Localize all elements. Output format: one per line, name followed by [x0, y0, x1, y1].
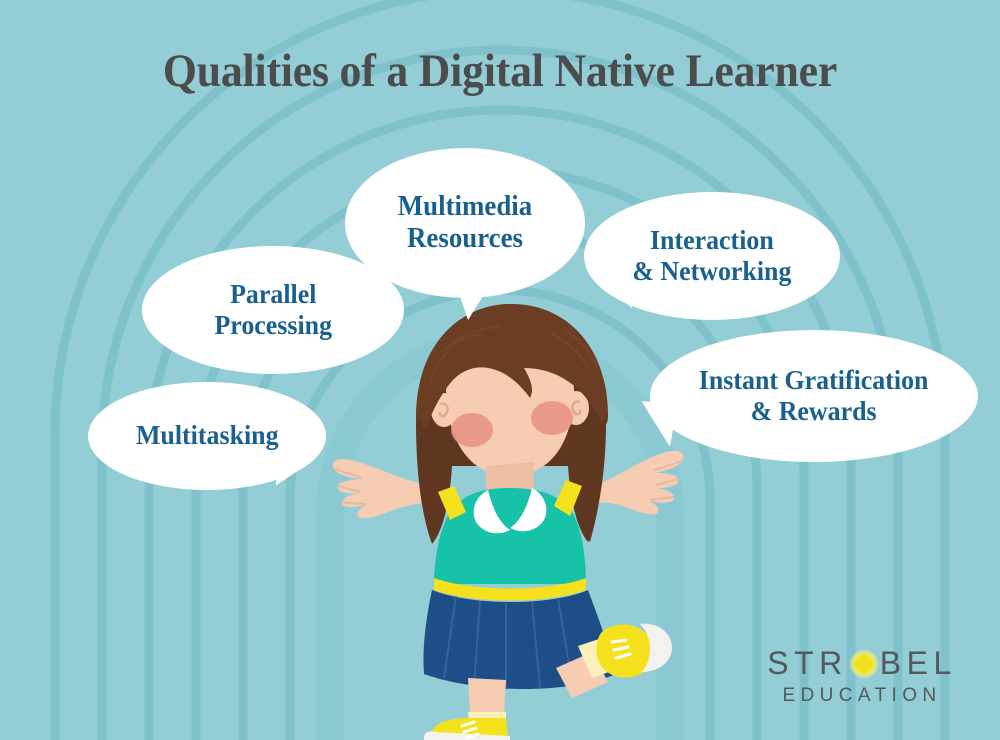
bubble-parallel-processing[interactable]: Parallel Processing — [142, 246, 404, 374]
logo-wordmark: STR BEL — [756, 645, 968, 681]
bubble-multitasking[interactable]: Multitasking — [88, 382, 326, 490]
bubble-instant-gratification-rewards[interactable]: Instant Gratification & Rewards — [650, 330, 978, 462]
bubble-interaction-line1: Interaction — [650, 225, 774, 255]
bubble-multitasking-line1: Multitasking — [136, 420, 279, 450]
logo-name-post: BEL — [880, 645, 957, 681]
bubble-multimedia-resources[interactable]: Multimedia Resources — [345, 148, 585, 298]
logo-subtitle: EDUCATION — [756, 685, 968, 707]
bubble-parallel-line2: Processing — [214, 310, 332, 340]
bubble-parallel-line1: Parallel — [230, 279, 316, 309]
bubble-instant-line2: & Rewards — [751, 396, 877, 426]
infographic-poster: Qualities of a Digital Native Learner — [0, 0, 1000, 740]
logo-name-pre: STR — [767, 645, 848, 681]
bubble-interaction-networking[interactable]: Interaction & Networking — [584, 192, 840, 320]
bubble-interaction-line2: & Networking — [632, 256, 791, 286]
sun-icon — [849, 649, 879, 679]
strobel-education-logo[interactable]: STR BEL EDUCATION — [756, 645, 968, 707]
bubble-multimedia-line2: Resources — [407, 223, 523, 254]
bubble-multimedia-line1: Multimedia — [398, 191, 532, 222]
page-title: Qualities of a Digital Native Learner — [35, 44, 965, 98]
bubble-instant-line1: Instant Gratification — [699, 365, 929, 395]
